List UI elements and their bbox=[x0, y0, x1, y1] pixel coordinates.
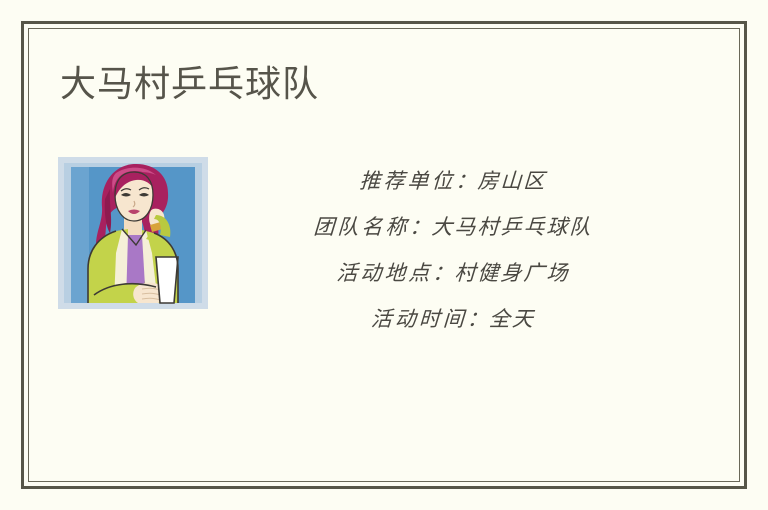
poster-content: 大马村乒乓球队 bbox=[28, 28, 740, 482]
detail-separator: ： bbox=[455, 169, 478, 193]
detail-label-activity-location: 活动地点 bbox=[336, 261, 433, 285]
detail-value-team-name: 大马村乒乓球队 bbox=[431, 215, 593, 239]
activity-details: 推荐单位：房山区 团队名称：大马村乒乓球队 活动地点：村健身广场 活动时间：全天 bbox=[203, 158, 703, 342]
detail-label-recommend-unit: 推荐单位 bbox=[359, 169, 456, 193]
detail-row-recommend-unit: 推荐单位：房山区 bbox=[202, 158, 704, 204]
page-title: 大马村乒乓球队 bbox=[60, 63, 319, 107]
woman-with-cup-illustration bbox=[58, 157, 208, 309]
detail-value-recommend-unit: 房山区 bbox=[477, 169, 547, 193]
detail-row-activity-location: 活动地点：村健身广场 bbox=[202, 250, 704, 296]
detail-value-activity-location: 村健身广场 bbox=[454, 261, 570, 285]
detail-separator: ： bbox=[409, 215, 432, 239]
detail-row-activity-time: 活动时间：全天 bbox=[202, 296, 704, 342]
illustration-svg bbox=[58, 157, 208, 309]
detail-separator: ： bbox=[466, 307, 489, 331]
detail-separator: ： bbox=[432, 261, 455, 285]
poster-page: 大马村乒乓球队 bbox=[0, 0, 768, 510]
detail-value-activity-time: 全天 bbox=[488, 307, 535, 331]
detail-label-team-name: 团队名称 bbox=[313, 215, 410, 239]
detail-label-activity-time: 活动时间 bbox=[370, 307, 467, 331]
detail-row-team-name: 团队名称：大马村乒乓球队 bbox=[202, 204, 704, 250]
